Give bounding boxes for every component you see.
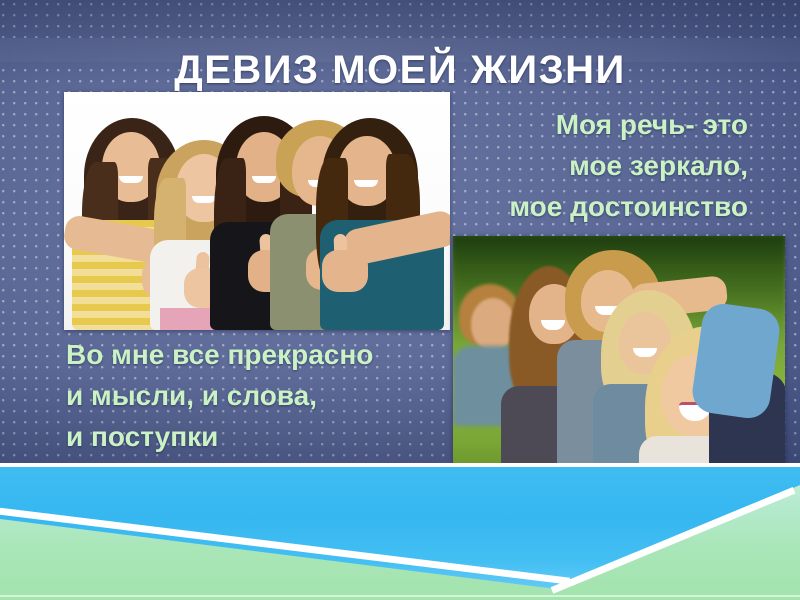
slide: ДЕВИЗ МОЕЙ ЖИЗНИ <box>0 0 800 600</box>
band-top-white-line <box>0 463 800 467</box>
quote-right-line-2: мое зеркало, <box>380 145 748 186</box>
page-title: ДЕВИЗ МОЕЙ ЖИЗНИ <box>0 48 800 92</box>
quote-left-line-3: и поступки <box>66 416 486 457</box>
quote-right-line-1: Моя речь- это <box>380 104 748 145</box>
quote-right: Моя речь- это мое зеркало, мое достоинст… <box>380 104 748 227</box>
photo-teens-on-grass <box>453 236 785 488</box>
quote-right-line-3: мое достоинство <box>380 186 748 227</box>
quote-left-line-1: Во мне все прекрасно <box>66 334 486 375</box>
quote-left-line-2: и мысли, и слова, <box>66 375 486 416</box>
band-bottom-white-line <box>0 595 800 597</box>
bottom-decorative-band <box>0 463 800 600</box>
quote-left: Во мне все прекрасно и мысли, и слова, и… <box>66 334 486 457</box>
